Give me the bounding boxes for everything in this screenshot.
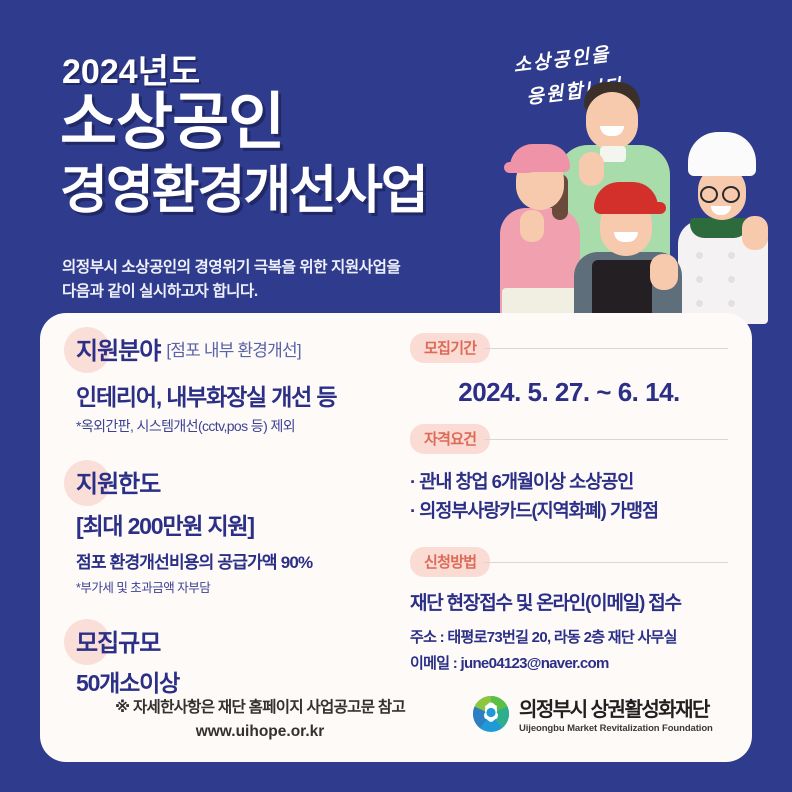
poster-root: 2024년도 소상공인 경영환경개선사업 의정부시 소상공인의 경영위기 극복을… <box>0 0 792 792</box>
person-green-shirt-head <box>586 92 638 150</box>
left-column: 지원분야[점포 내부 환경개선] 인테리어, 내부화장실 개선 등 *옥외간판,… <box>76 331 406 705</box>
foundation-name-en: Uijeongbu Market Revitalization Foundati… <box>519 723 713 734</box>
divider-line <box>484 562 728 563</box>
support-limit-detail: 점포 환경개선비용의 공급가액 90% <box>76 551 406 575</box>
subtitle-line2: 다음과 같이 실시하고자 합니다. <box>62 283 258 300</box>
chef-button <box>696 252 703 259</box>
recruit-period-value: 2024. 5. 27. ~ 6. 14. <box>410 363 728 414</box>
foundation-logo: 의정부시 상권활성화재단 Uijeongbu Market Revitaliza… <box>472 693 713 734</box>
support-field-main: 인테리어, 내부화장실 개선 등 <box>76 383 406 413</box>
divider-line <box>484 348 728 349</box>
subtitle-line1: 의정부시 소상공인의 경영위기 극복을 위한 지원사업을 <box>62 259 400 276</box>
section-recruit-scale: 모집규모 50개소이상 <box>76 623 406 699</box>
foundation-logo-text: 의정부시 상권활성화재단 Uijeongbu Market Revitaliza… <box>519 693 713 734</box>
section-support-field: 지원분야[점포 내부 환경개선] 인테리어, 내부화장실 개선 등 *옥외간판,… <box>76 331 406 436</box>
section-recruit-period: 모집기간 2024. 5. 27. ~ 6. 14. <box>410 333 728 414</box>
support-limit-heading-row: 지원한도 <box>76 464 406 504</box>
glasses-icon <box>700 186 718 203</box>
chef-button <box>728 252 735 259</box>
list-item: · 관내 창업 6개월이상 소상공인 <box>410 468 728 497</box>
content-card: 지원분야[점포 내부 환경개선] 인테리어, 내부화장실 개선 등 *옥외간판,… <box>40 313 752 762</box>
eligibility-badge: 자격요건 <box>410 424 490 454</box>
apply-email: 이메일 : june04123@naver.com <box>410 652 728 675</box>
recruit-period-badge: 모집기간 <box>410 333 490 363</box>
support-limit-heading: 지원한도 <box>76 464 160 499</box>
support-limit-note: *부가세 및 초과금액 자부담 <box>76 580 406 598</box>
thumbs-up-icon <box>520 210 544 242</box>
support-field-subheading: [점포 내부 환경개선] <box>166 336 300 361</box>
footer-notice-line1: ※ 자세한사항은 재단 홈페이지 사업공고문 참고 <box>68 695 452 717</box>
chef-button <box>728 300 735 307</box>
recruit-scale-heading: 모집규모 <box>76 623 160 658</box>
eligibility-badge-row: 자격요건 <box>410 424 728 454</box>
chef-button <box>728 276 735 283</box>
recruit-scale-heading-row: 모집규모 <box>76 623 406 663</box>
apply-method-main: 재단 현장접수 및 온라인(이메일) 접수 <box>410 591 728 618</box>
foundation-name-kr: 의정부시 상권활성화재단 <box>519 693 713 722</box>
apply-method-badge: 신청방법 <box>410 547 490 577</box>
eligibility-list: · 관내 창업 6개월이상 소상공인 · 의정부사랑카드(지역화폐) 가맹점 <box>410 468 728 525</box>
footer-notice: ※ 자세한사항은 재단 홈페이지 사업공고문 참고 www.uihope.or.… <box>68 695 452 741</box>
poster-title-line1: 소상공인 <box>60 92 284 154</box>
support-limit-main: [최대 200만원 지원] <box>76 512 406 542</box>
chef-button <box>696 276 703 283</box>
year-label: 2024년도 <box>62 44 200 93</box>
support-field-note: *옥외간판, 시스템개선(cctv,pos 등) 제외 <box>76 416 406 436</box>
person-chef-collar <box>690 218 748 238</box>
apply-method-badge-row: 신청방법 <box>410 547 728 577</box>
chef-button <box>696 300 703 307</box>
thumbs-up-icon <box>650 254 678 290</box>
person-green-shirt-collar <box>600 146 626 162</box>
pink-cap-brim <box>504 162 534 173</box>
business-owners-illustration <box>500 70 792 320</box>
section-eligibility: 자격요건 · 관내 창업 6개월이상 소상공인 · 의정부사랑카드(지역화폐) … <box>410 424 728 525</box>
footer-website-url[interactable]: www.uihope.or.kr <box>68 723 452 741</box>
thumbs-up-icon <box>742 216 768 250</box>
section-apply-method: 신청방법 재단 현장접수 및 온라인(이메일) 접수 주소 : 태평로73번길 … <box>410 547 728 675</box>
thumbs-up-icon <box>579 152 604 186</box>
right-column: 모집기간 2024. 5. 27. ~ 6. 14. 자격요건 · 관내 창업 … <box>410 333 728 675</box>
list-item: · 의정부사랑카드(지역화폐) 가맹점 <box>410 497 728 526</box>
apply-address: 주소 : 태평로73번길 20, 라동 2층 재단 사무실 <box>410 626 728 649</box>
poster-subtitle: 의정부시 소상공인의 경영위기 극복을 위한 지원사업을 다음과 같이 실시하고… <box>62 256 400 304</box>
support-field-heading-row: 지원분야[점포 내부 환경개선] <box>76 331 406 371</box>
divider-line <box>484 439 728 440</box>
chef-hat-icon <box>688 132 756 176</box>
glasses-icon <box>722 186 740 203</box>
foundation-logo-icon <box>472 695 510 733</box>
recruit-period-badge-row: 모집기간 <box>410 333 728 363</box>
support-field-heading: 지원분야 <box>76 331 160 366</box>
section-support-limit: 지원한도 [최대 200만원 지원] 점포 환경개선비용의 공급가액 90% *… <box>76 464 406 597</box>
poster-title-line2: 경영환경개선사업 <box>60 165 427 217</box>
poster-header: 2024년도 소상공인 경영환경개선사업 의정부시 소상공인의 경영위기 극복을… <box>0 0 792 313</box>
red-cap-brim <box>634 202 666 214</box>
